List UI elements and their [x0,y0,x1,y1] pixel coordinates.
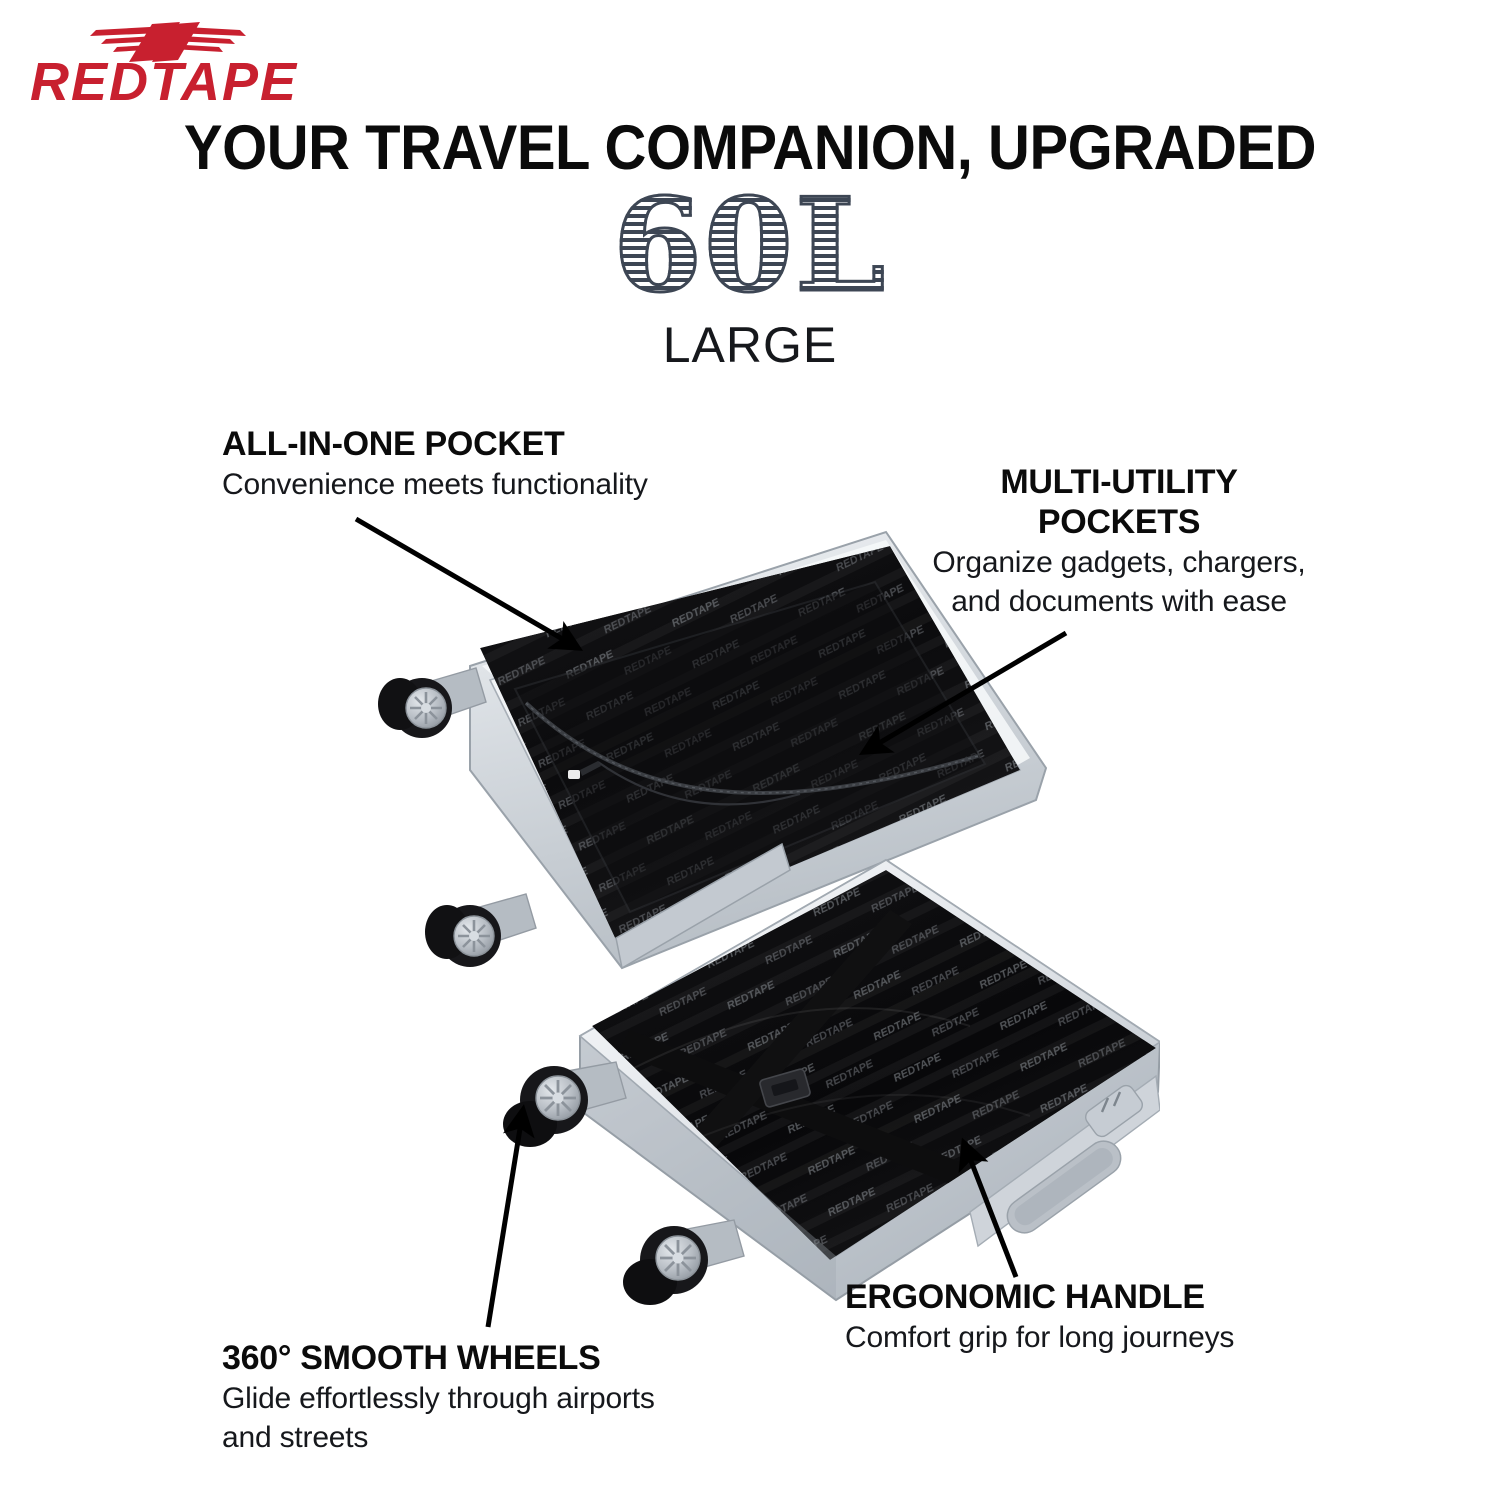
capacity-size-label: LARGE [0,316,1500,374]
feature-ergonomic-handle: ERGONOMIC HANDLE Comfort grip for long j… [845,1277,1315,1356]
capacity-value: 60L [0,182,1500,310]
feature-description: Comfort grip for long journeys [845,1319,1315,1356]
feature-description-line1: Organize gadgets, chargers, [915,544,1323,581]
feature-description-line2: and streets [222,1419,782,1456]
infographic-page: REDTAPE YOUR TRAVEL COMPANION, UPGRADED … [0,0,1500,1500]
capacity-block: 60L LARGE [0,182,1500,374]
feature-description-line1: Glide effortlessly through airports [222,1380,782,1417]
feature-title: ALL-IN-ONE POCKET [222,424,782,464]
feature-multi-utility-pockets: MULTI-UTILITY POCKETS Organize gadgets, … [915,462,1323,621]
feature-title: ERGONOMIC HANDLE [845,1277,1315,1317]
feature-title-line1: MULTI-UTILITY [915,462,1323,502]
feature-description: Convenience meets functionality [222,466,782,503]
feature-title: 360° SMOOTH WHEELS [222,1338,782,1378]
brand-wordmark: REDTAPE [30,52,298,110]
feature-description-line2: and documents with ease [915,583,1323,620]
feature-smooth-wheels: 360° SMOOTH WHEELS Glide effortlessly th… [222,1338,782,1456]
feature-title-line2: POCKETS [915,502,1323,542]
brand-logo: REDTAPE [18,8,318,110]
wheel-mid-left [425,894,536,967]
wheel-lower-right [623,1220,744,1305]
feature-all-in-one-pocket: ALL-IN-ONE POCKET Convenience meets func… [222,424,782,503]
